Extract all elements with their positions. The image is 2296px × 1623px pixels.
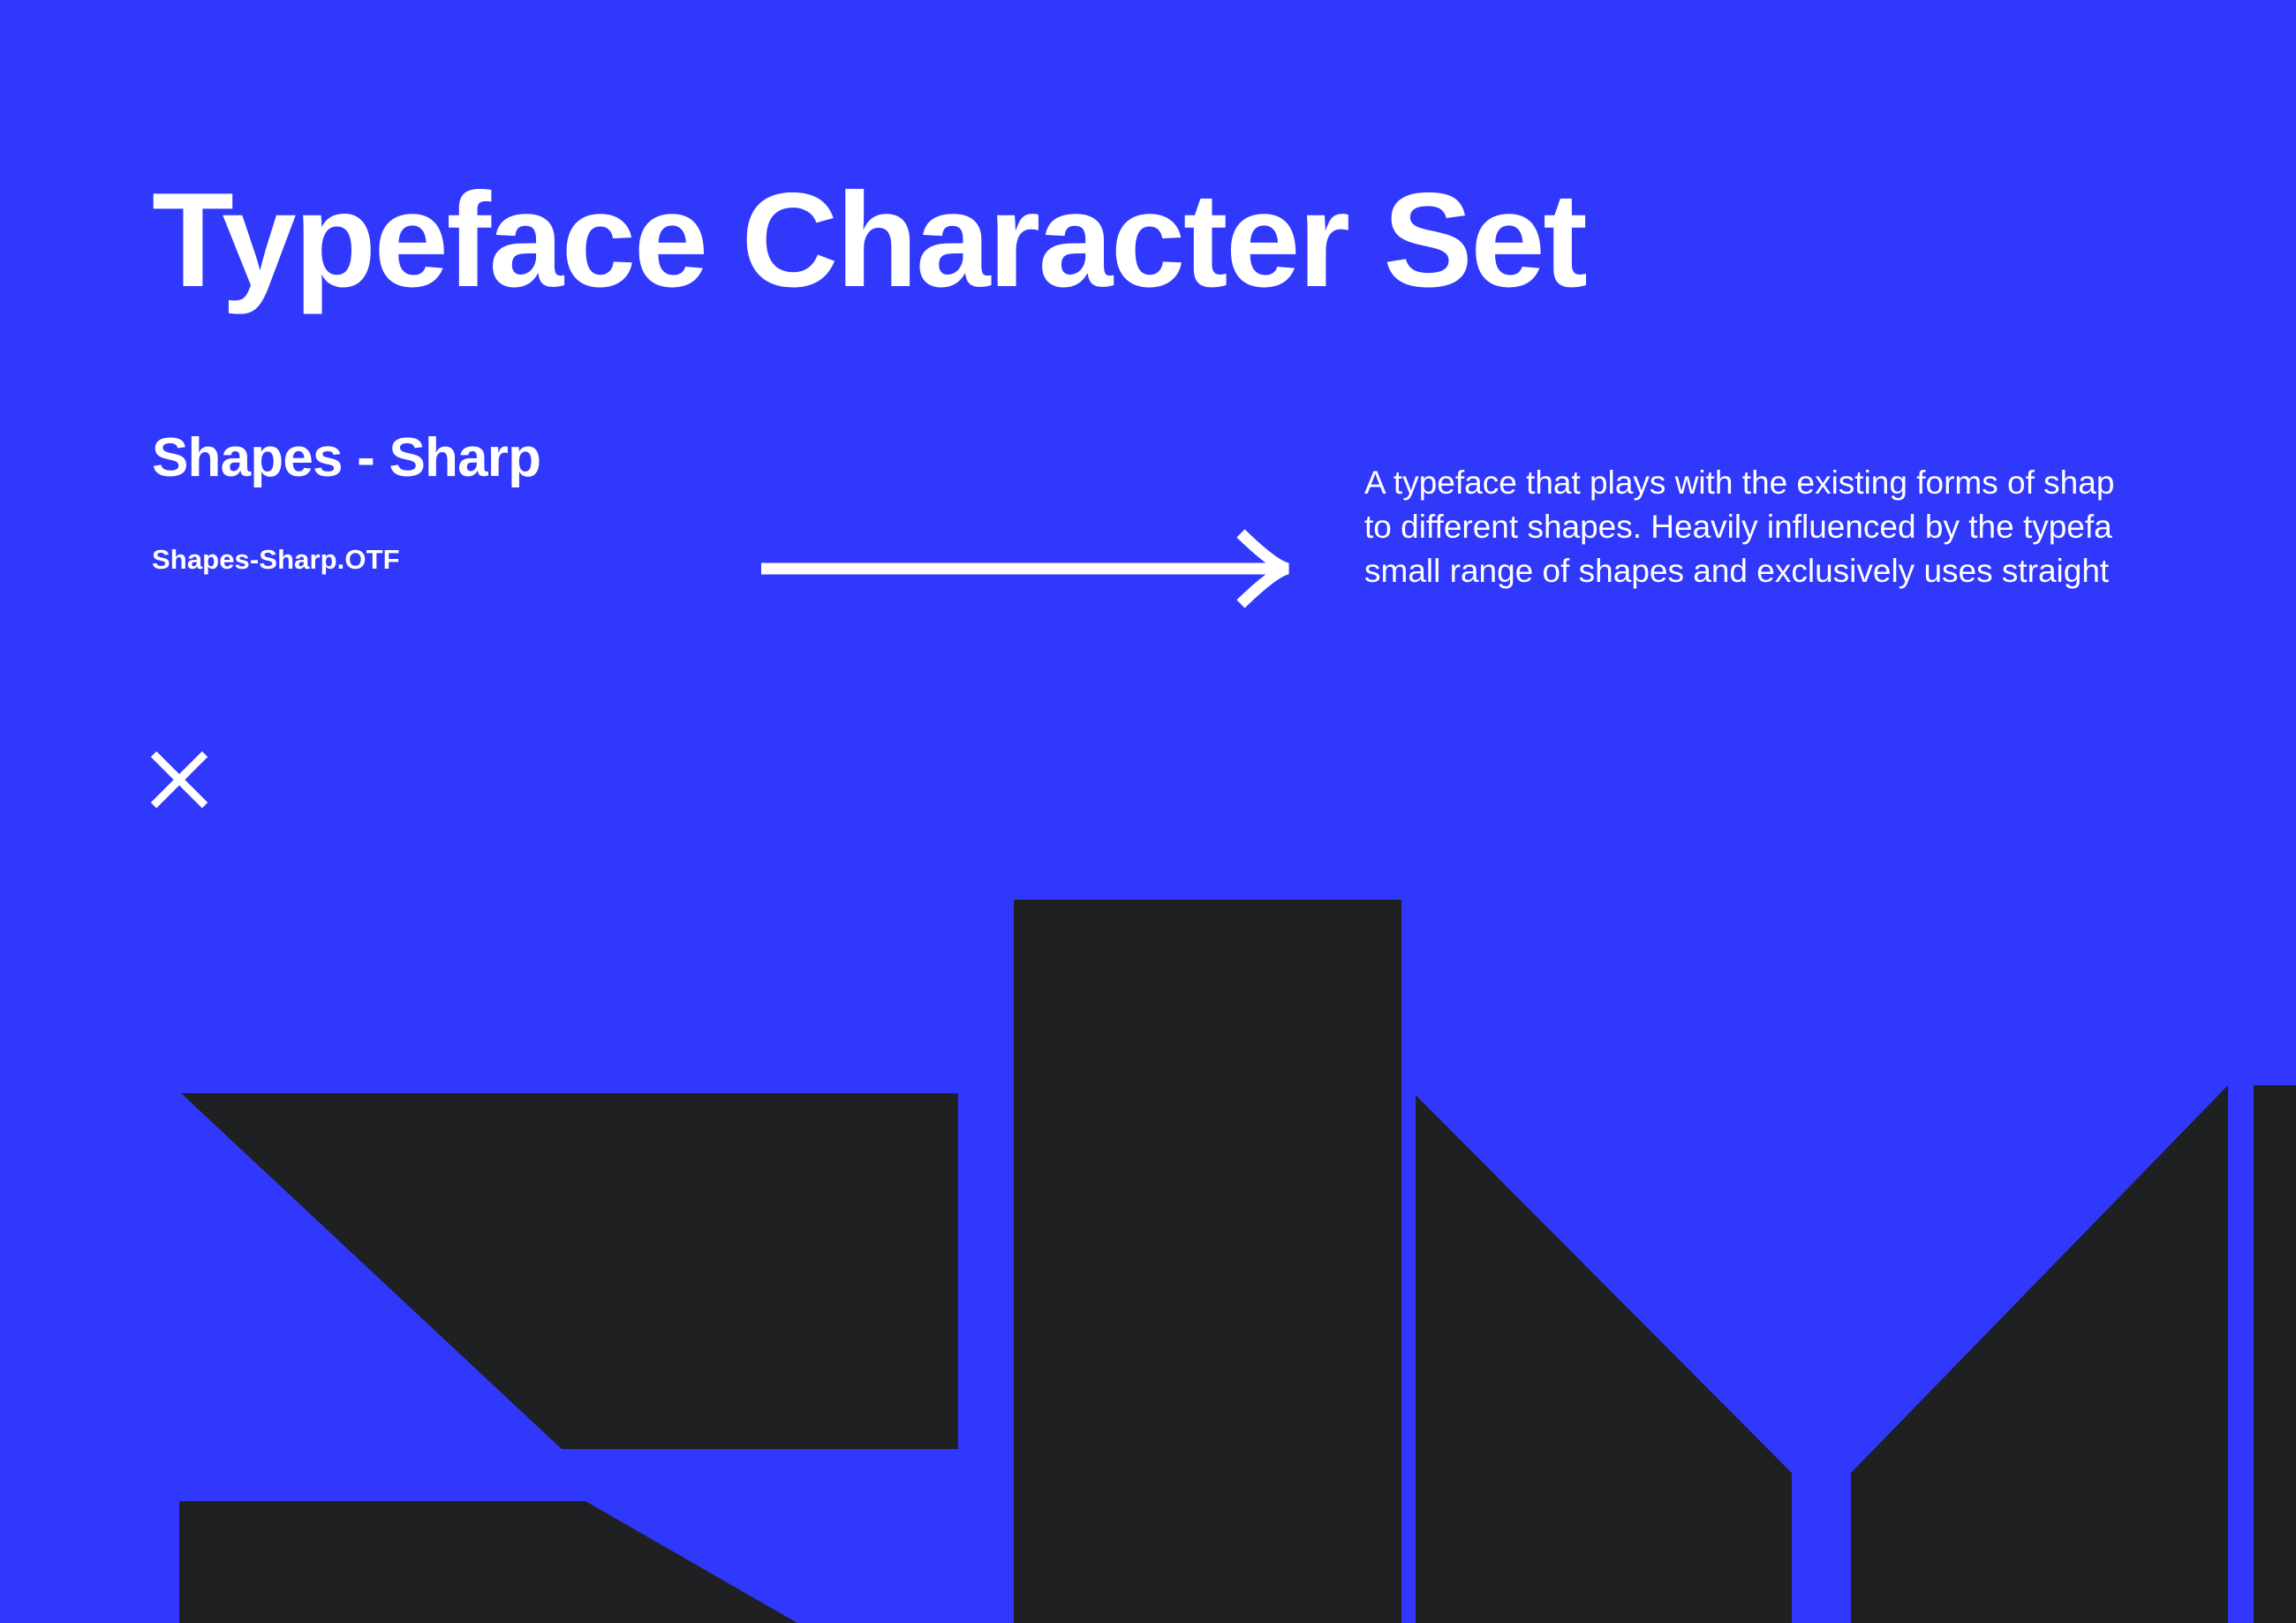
arrow-right-icon: [761, 526, 1291, 611]
specimen-page: Typeface Character Set Shapes - Sharp Sh…: [0, 0, 2296, 1623]
page-title: Typeface Character Set: [152, 173, 1585, 307]
typeface-description: A typeface that plays with the existing …: [1364, 461, 2296, 593]
typeface-name: Shapes - Sharp: [152, 431, 540, 486]
font-filename: Shapes-Sharp.OTF: [152, 546, 400, 573]
close-icon[interactable]: [150, 751, 208, 809]
content-layer: Typeface Character Set Shapes - Sharp Sh…: [0, 0, 2296, 1623]
